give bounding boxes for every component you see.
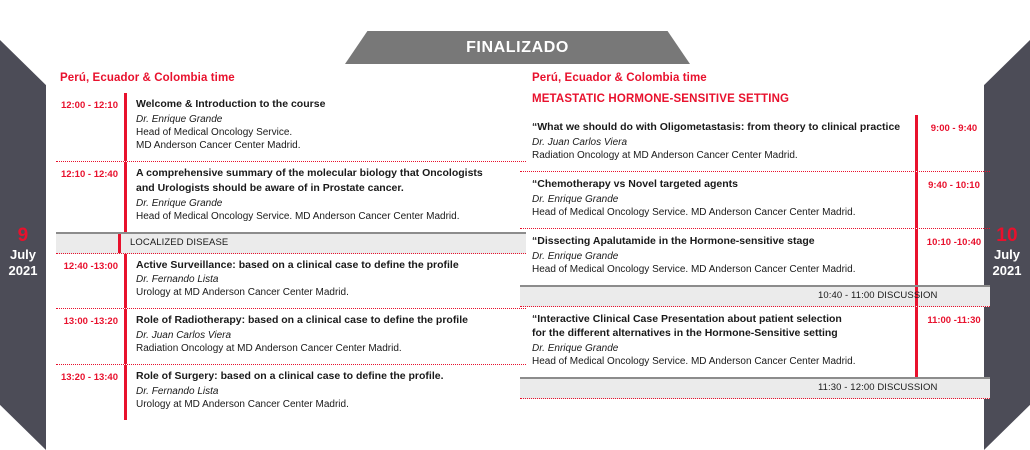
session-title: Welcome & Introduction to the course bbox=[136, 98, 522, 112]
section-title: METASTATIC HORMONE-SENSITIVE SETTING bbox=[532, 93, 990, 115]
session-title: “Dissecting Apalutamide in the Hormone-s… bbox=[532, 235, 907, 249]
session-affiliation: Head of Medical Oncology Service. MD And… bbox=[532, 355, 907, 368]
session-time: 13:20 - 13:40 bbox=[56, 365, 124, 420]
session-speaker: Dr. Enrique Grande bbox=[532, 342, 907, 355]
session-row[interactable]: 12:40 -13:00 Active Surveillance: based … bbox=[56, 254, 526, 309]
session-title: for the different alternatives in the Ho… bbox=[532, 327, 907, 341]
day-month-label: July bbox=[984, 247, 1030, 262]
status-badge: FINALIZADO bbox=[466, 39, 569, 57]
session-row[interactable]: “What we should do with Oligometastasis:… bbox=[520, 115, 990, 171]
day-number: 9 bbox=[0, 225, 46, 247]
status-ribbon: FINALIZADO bbox=[345, 31, 690, 64]
timezone-title: Perú, Ecuador & Colombia time bbox=[60, 72, 526, 93]
day-marker-left: 9 July 2021 bbox=[0, 40, 46, 450]
session-title: Active Surveillance: based on a clinical… bbox=[136, 259, 522, 273]
session-row[interactable]: 13:00 -13:20 Role of Radiotherapy: based… bbox=[56, 308, 526, 364]
session-affiliation: Radiation Oncology at MD Anderson Cancer… bbox=[532, 149, 907, 162]
session-speaker: Dr. Juan Carlos Viera bbox=[532, 136, 907, 149]
day-marker-left-content: 9 July 2021 bbox=[0, 225, 46, 278]
day-year-label: 2021 bbox=[984, 263, 1030, 278]
session-title: and Urologists should be aware of in Pro… bbox=[136, 182, 522, 196]
session-row[interactable]: “Chemotherapy vs Novel targeted agents D… bbox=[520, 171, 990, 228]
session-row[interactable]: 12:00 - 12:10 Welcome & Introduction to … bbox=[56, 93, 526, 161]
session-title: “Chemotherapy vs Novel targeted agents bbox=[532, 178, 907, 192]
day-year-label: 2021 bbox=[0, 263, 46, 278]
timezone-title: Perú, Ecuador & Colombia time bbox=[532, 72, 990, 93]
session-body: Role of Surgery: based on a clinical cas… bbox=[127, 365, 526, 420]
session-title: A comprehensive summary of the molecular… bbox=[136, 167, 522, 181]
session-speaker: Dr. Enrique Grande bbox=[136, 113, 522, 126]
session-affiliation: Head of Medical Oncology Service. MD And… bbox=[532, 263, 907, 276]
session-title: “What we should do with Oligometastasis:… bbox=[532, 121, 907, 135]
session-title: “Interactive Clinical Case Presentation … bbox=[532, 313, 907, 327]
category-band-localized-disease: LOCALIZED DISEASE bbox=[56, 232, 526, 254]
session-speaker: Dr. Fernando Lista bbox=[136, 273, 522, 286]
session-time: 11:00 -11:30 bbox=[918, 307, 990, 378]
session-row[interactable]: “Interactive Clinical Case Presentation … bbox=[520, 307, 990, 378]
discussion-band-label: 10:40 - 11:00 DISCUSSION bbox=[818, 290, 937, 301]
session-body: “Chemotherapy vs Novel targeted agents D… bbox=[520, 172, 915, 228]
session-affiliation: Radiation Oncology at MD Anderson Cancer… bbox=[136, 342, 522, 355]
session-time: 9:40 - 10:10 bbox=[918, 172, 990, 228]
session-speaker: Dr. Fernando Lista bbox=[136, 385, 522, 398]
day-marker-right: 10 July 2021 bbox=[984, 40, 1030, 450]
session-body: Active Surveillance: based on a clinical… bbox=[127, 254, 526, 309]
session-body: “What we should do with Oligometastasis:… bbox=[520, 115, 915, 171]
session-affiliation: Head of Medical Oncology Service. MD And… bbox=[136, 210, 522, 223]
session-body: A comprehensive summary of the molecular… bbox=[127, 162, 526, 232]
session-affiliation: Head of Medical Oncology Service. bbox=[136, 126, 522, 139]
session-body: “Interactive Clinical Case Presentation … bbox=[520, 307, 915, 378]
session-speaker: Dr. Enrique Grande bbox=[532, 250, 907, 263]
discussion-band-label: 11:30 - 12:00 DISCUSSION bbox=[818, 382, 937, 393]
session-speaker: Dr. Enrique Grande bbox=[136, 197, 522, 210]
session-affiliation: Urology at MD Anderson Cancer Center Mad… bbox=[136, 398, 522, 411]
session-affiliation: Head of Medical Oncology Service. MD And… bbox=[532, 206, 907, 219]
session-time: 9:00 - 9:40 bbox=[918, 115, 990, 171]
session-row[interactable]: 13:20 - 13:40 Role of Surgery: based on … bbox=[56, 364, 526, 420]
discussion-band: 11:30 - 12:00 DISCUSSION bbox=[520, 377, 990, 399]
session-body: “Dissecting Apalutamide in the Hormone-s… bbox=[520, 229, 915, 285]
day-marker-right-content: 10 July 2021 bbox=[984, 225, 1030, 278]
session-affiliation: Urology at MD Anderson Cancer Center Mad… bbox=[136, 286, 522, 299]
session-time: 12:10 - 12:40 bbox=[56, 162, 124, 232]
session-body: Welcome & Introduction to the course Dr.… bbox=[127, 93, 526, 161]
session-speaker: Dr. Juan Carlos Viera bbox=[136, 329, 522, 342]
category-band-label: LOCALIZED DISEASE bbox=[130, 237, 228, 248]
day-month-label: July bbox=[0, 247, 46, 262]
session-title: Role of Surgery: based on a clinical cas… bbox=[136, 370, 522, 384]
session-row[interactable]: “Dissecting Apalutamide in the Hormone-s… bbox=[520, 228, 990, 285]
discussion-band: 10:40 - 11:00 DISCUSSION bbox=[520, 285, 990, 307]
session-speaker: Dr. Enrique Grande bbox=[532, 193, 907, 206]
session-affiliation: MD Anderson Cancer Center Madrid. bbox=[136, 139, 522, 152]
session-row[interactable]: 12:10 - 12:40 A comprehensive summary of… bbox=[56, 161, 526, 232]
session-accent-bar bbox=[118, 234, 121, 253]
session-body: Role of Radiotherapy: based on a clinica… bbox=[127, 309, 526, 364]
session-time: 12:40 -13:00 bbox=[56, 254, 124, 309]
agenda-column-day1: Perú, Ecuador & Colombia time 12:00 - 12… bbox=[56, 72, 526, 420]
day-number: 10 bbox=[984, 225, 1030, 247]
session-time: 13:00 -13:20 bbox=[56, 309, 124, 364]
agenda-column-day2: Perú, Ecuador & Colombia time METASTATIC… bbox=[520, 72, 990, 399]
session-time: 10:10 -10:40 bbox=[918, 229, 990, 285]
session-title: Role of Radiotherapy: based on a clinica… bbox=[136, 314, 522, 328]
session-time: 12:00 - 12:10 bbox=[56, 93, 124, 161]
